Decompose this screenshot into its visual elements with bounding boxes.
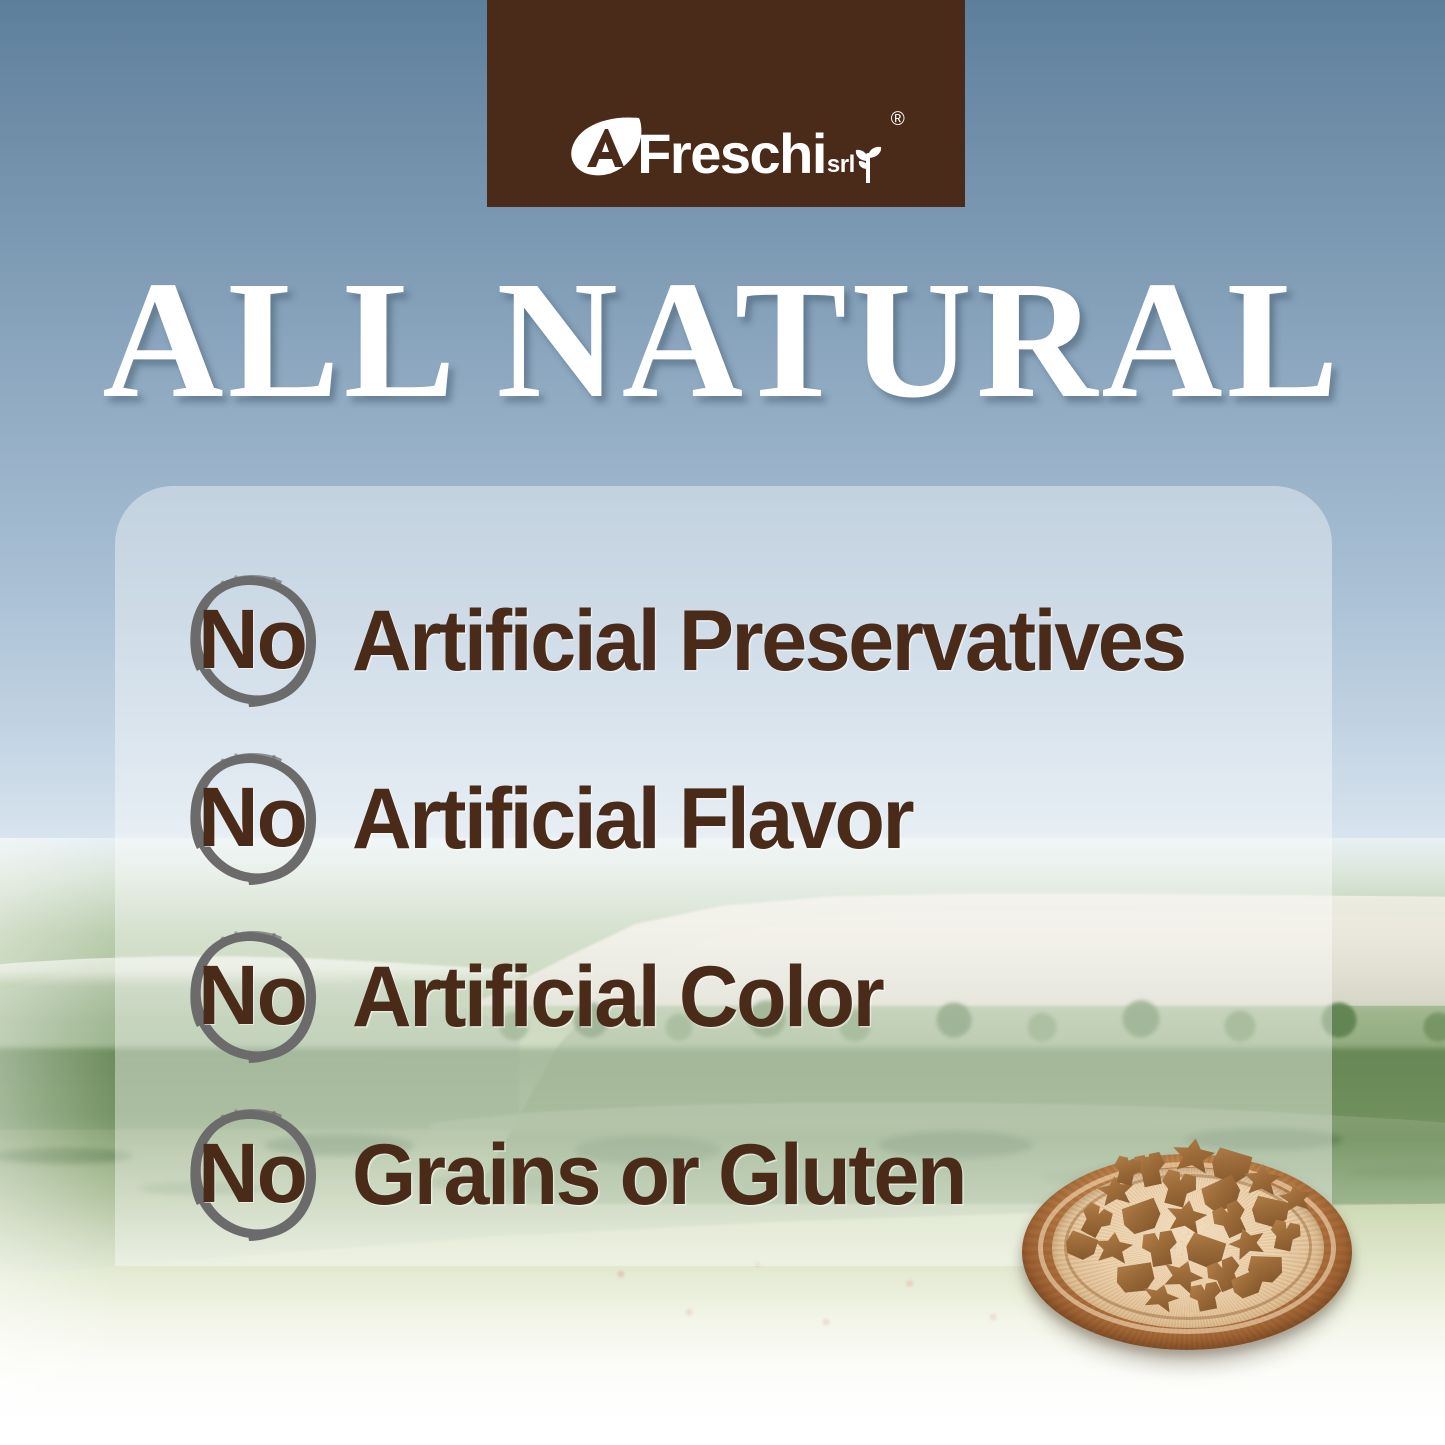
left-edge-fade: [0, 838, 120, 1445]
logo-srl-suffix: srl: [827, 151, 855, 179]
logo-lockup: Freschi srl ®: [569, 115, 883, 181]
product-image: [1008, 1128, 1368, 1386]
logo-wordmark: Freschi: [637, 128, 826, 181]
pet-treats-pile: [1052, 1136, 1328, 1308]
treat-piece: [1090, 1230, 1136, 1270]
no-label: No: [198, 597, 306, 681]
treat-piece: [1152, 1165, 1204, 1213]
page-title: ALL NATURAL: [0, 256, 1445, 424]
brand-logo-bar: Freschi srl ®: [487, 0, 965, 207]
no-badge: No: [178, 923, 326, 1071]
no-badge: No: [178, 745, 326, 893]
list-item: No Artificial Flavor: [178, 730, 1358, 908]
no-label: No: [198, 953, 306, 1037]
no-badge: No: [178, 1101, 326, 1249]
claim-text: Grains or Gluten: [352, 1132, 965, 1218]
list-item: No Artificial Color: [178, 908, 1358, 1086]
no-label: No: [198, 775, 306, 859]
list-item: No Artificial Preservatives: [178, 552, 1358, 730]
claim-text: Artificial Color: [352, 954, 882, 1040]
no-label: No: [198, 1131, 306, 1215]
no-badge: No: [178, 567, 326, 715]
registered-trademark-icon: ®: [891, 109, 905, 131]
sprout-icon: [853, 139, 883, 183]
claim-text: Artificial Preservatives: [352, 598, 1185, 684]
claim-text: Artificial Flavor: [352, 776, 912, 862]
leaf-with-letter-a-icon: [569, 115, 643, 181]
all-natural-product-poster: Freschi srl ® ALL NATURAL: [0, 0, 1445, 1445]
